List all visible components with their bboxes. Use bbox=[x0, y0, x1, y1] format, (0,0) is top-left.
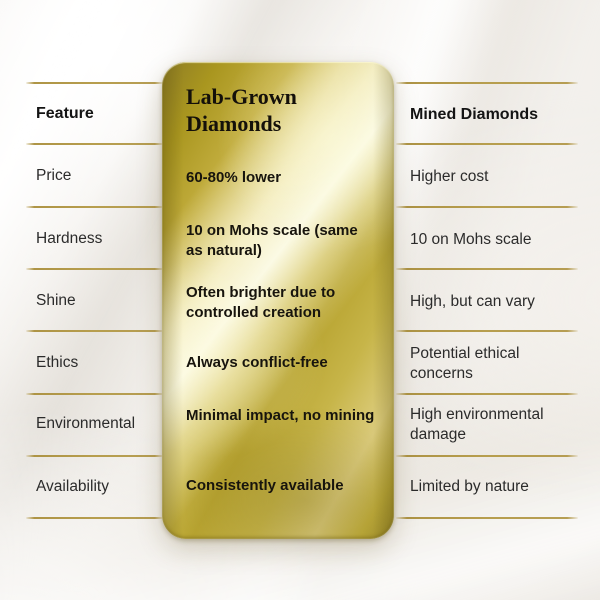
cell-feature-price: Price bbox=[36, 166, 156, 186]
cell-mined-price: Higher cost bbox=[410, 167, 582, 187]
divider-left-5 bbox=[26, 393, 163, 395]
comparison-table: Feature Mined Diamonds Price Hardness Sh… bbox=[0, 0, 600, 600]
divider-left-2 bbox=[26, 206, 163, 208]
cell-mined-ethics: Potential ethical concerns bbox=[410, 344, 582, 384]
cell-feature-availability: Availability bbox=[36, 477, 156, 497]
cell-mined-environmental: High environmental damage bbox=[410, 405, 582, 445]
divider-right-0 bbox=[396, 82, 578, 84]
card-cell-environmental: Minimal impact, no mining bbox=[186, 406, 378, 426]
cell-mined-availability: Limited by nature bbox=[410, 477, 582, 497]
divider-left-3 bbox=[26, 268, 163, 270]
card-cell-shine: Often brighter due to controlled creatio… bbox=[186, 283, 378, 322]
divider-left-7 bbox=[26, 517, 163, 519]
card-cell-ethics: Always conflict-free bbox=[186, 353, 378, 373]
column-header-mined-diamonds: Mined Diamonds bbox=[410, 105, 582, 125]
cell-feature-shine: Shine bbox=[36, 291, 156, 311]
cell-feature-ethics: Ethics bbox=[36, 353, 156, 373]
lab-grown-diamonds-highlight-card: Lab-Grown Diamonds 60-80% lower 10 on Mo… bbox=[162, 62, 394, 539]
divider-right-2 bbox=[396, 206, 578, 208]
divider-left-4 bbox=[26, 330, 163, 332]
cell-mined-hardness: 10 on Mohs scale bbox=[410, 230, 582, 250]
cell-mined-shine: High, but can vary bbox=[410, 292, 582, 312]
card-cell-hardness: 10 on Mohs scale (same as natural) bbox=[186, 221, 378, 260]
divider-right-3 bbox=[396, 268, 578, 270]
divider-left-0 bbox=[26, 82, 163, 84]
column-header-feature: Feature bbox=[36, 104, 156, 124]
divider-right-6 bbox=[396, 455, 578, 457]
divider-left-1 bbox=[26, 143, 163, 145]
divider-right-4 bbox=[396, 330, 578, 332]
card-title-lab-grown-diamonds: Lab-Grown Diamonds bbox=[186, 84, 382, 138]
card-cell-availability: Consistently available bbox=[186, 476, 378, 496]
divider-left-6 bbox=[26, 455, 163, 457]
divider-right-1 bbox=[396, 143, 578, 145]
comparison-infographic: Feature Mined Diamonds Price Hardness Sh… bbox=[0, 0, 600, 600]
divider-right-5 bbox=[396, 393, 578, 395]
cell-feature-hardness: Hardness bbox=[36, 229, 156, 249]
divider-right-7 bbox=[396, 517, 578, 519]
card-cell-price: 60-80% lower bbox=[186, 168, 378, 188]
cell-feature-environmental: Environmental bbox=[36, 414, 156, 434]
